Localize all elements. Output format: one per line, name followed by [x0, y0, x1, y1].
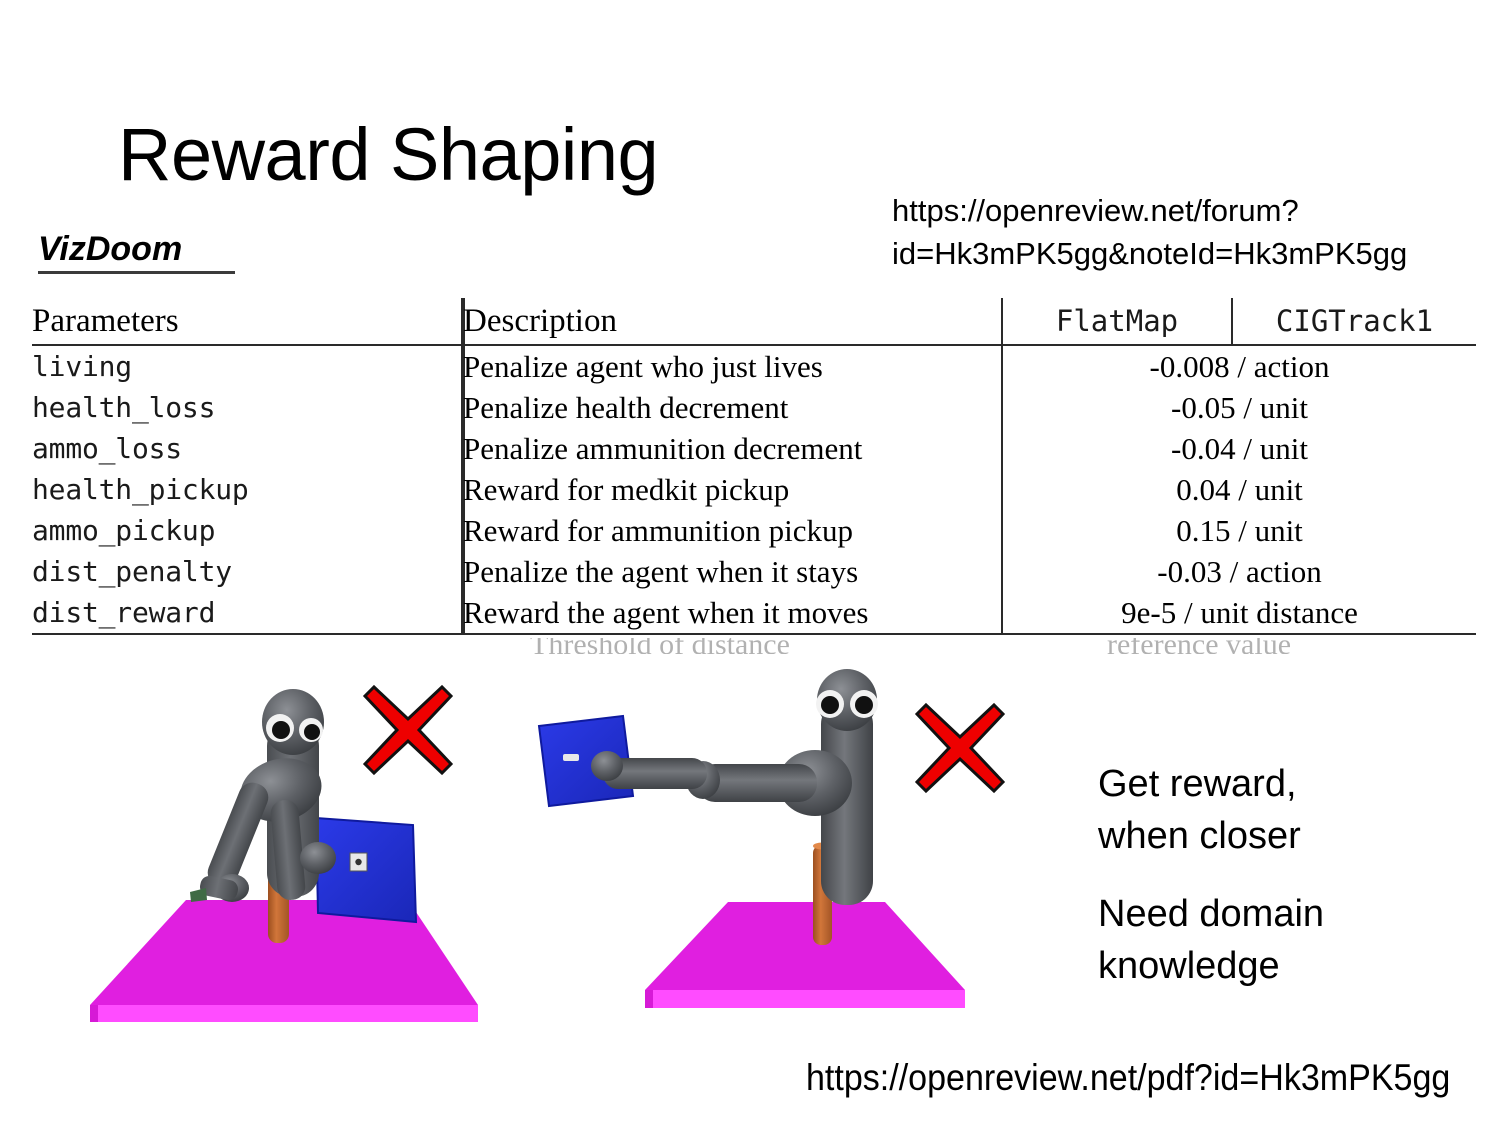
table-row: health_pickup Reward for medkit pickup 0…	[32, 469, 1476, 510]
source-url-top[interactable]: https://openreview.net/forum?id=Hk3mPK5g…	[892, 190, 1292, 276]
cell-value: 0.04 / unit	[1002, 469, 1476, 510]
cell-description: Penalize ammunition decrement	[462, 428, 1002, 469]
table-row: health_loss Penalize health decrement -0…	[32, 387, 1476, 428]
table-row: living Penalize agent who just lives -0.…	[32, 346, 1476, 387]
cell-description: Reward for ammunition pickup	[462, 510, 1002, 551]
subtitle-vizdoom: VizDoom	[38, 232, 182, 269]
cross-mark-icon-left	[360, 682, 456, 783]
cell-value: 0.15 / unit	[1002, 510, 1476, 551]
cell-parameter: dist_reward	[32, 592, 462, 634]
clipped-description: Threshold of distance	[530, 638, 790, 654]
cell-description: Penalize health decrement	[462, 387, 1002, 428]
subtitle-underline	[38, 271, 235, 274]
table-header-row: Parameters Description FlatMap CIGTrack1	[32, 298, 1476, 345]
source-url-bottom[interactable]: https://openreview.net/pdf?id=Hk3mPK5gg	[806, 1058, 1450, 1099]
magenta-platform	[645, 902, 965, 1008]
cell-parameter: dist_penalty	[32, 551, 462, 592]
annotation-get-reward: Get reward, when closer	[1098, 758, 1418, 863]
column-header-flatmap: FlatMap	[1002, 298, 1232, 345]
cell-description: Penalize agent who just lives	[462, 346, 1002, 387]
cell-description: Reward the agent when it moves	[462, 592, 1002, 634]
page-title: Reward Shaping	[118, 118, 658, 192]
cell-description: Penalize the agent when it stays	[462, 551, 1002, 592]
cell-parameter: living	[32, 346, 462, 387]
annotation-line-4: knowledge	[1098, 940, 1428, 992]
robot-arm	[591, 669, 878, 905]
table-row: ammo_loss Penalize ammunition decrement …	[32, 428, 1476, 469]
cell-value: -0.04 / unit	[1002, 428, 1476, 469]
column-header-description: Description	[462, 298, 1002, 345]
annotation-line-1: Get reward,	[1098, 758, 1418, 810]
blue-target-panel	[316, 818, 416, 922]
cell-value: 9e-5 / unit distance	[1002, 592, 1476, 634]
column-header-cigtrack1: CIGTrack1	[1232, 298, 1476, 345]
clipped-value: reference value	[1107, 638, 1291, 654]
subtitle-group: VizDoom	[38, 232, 235, 274]
robot-arm	[190, 689, 336, 902]
cell-value: -0.03 / action	[1002, 551, 1476, 592]
cell-parameter: health_loss	[32, 387, 462, 428]
reward-parameters-table: Parameters Description FlatMap CIGTrack1…	[32, 298, 1476, 635]
cell-value: -0.05 / unit	[1002, 387, 1476, 428]
cross-mark-icon-right	[912, 700, 1008, 801]
cell-description: Reward for medkit pickup	[462, 469, 1002, 510]
table-row: dist_reward Reward the agent when it mov…	[32, 592, 1476, 634]
cell-value: -0.008 / action	[1002, 346, 1476, 387]
annotation-line-2: when closer	[1098, 810, 1418, 862]
table-row: dist_penalty Penalize the agent when it …	[32, 551, 1476, 592]
annotation-need-domain: Need domain knowledge	[1098, 888, 1428, 993]
cell-parameter: health_pickup	[32, 469, 462, 510]
cell-parameter: ammo_pickup	[32, 510, 462, 551]
column-header-parameters: Parameters	[32, 298, 462, 345]
table-row: ammo_pickup Reward for ammunition pickup…	[32, 510, 1476, 551]
annotation-line-3: Need domain	[1098, 888, 1428, 940]
clipped-table-row: Threshold of distance reference value	[32, 638, 1476, 654]
cell-parameter: ammo_loss	[32, 428, 462, 469]
